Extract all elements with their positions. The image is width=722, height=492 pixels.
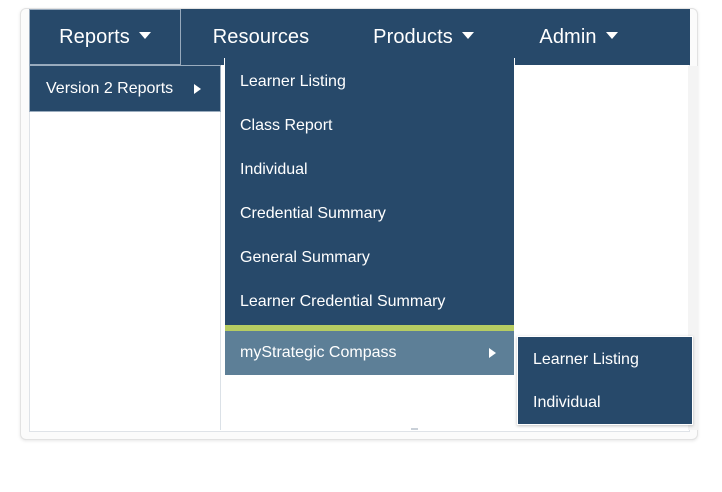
menu-item-learner-credential-summary[interactable]: Learner Credential Summary bbox=[225, 280, 514, 324]
reports-dropdown-menu: Version 2 Reports bbox=[29, 65, 221, 112]
nav-item-products-label: Products bbox=[373, 26, 453, 49]
submenu-item-individual-label: Individual bbox=[533, 394, 601, 412]
nav-item-reports[interactable]: Reports bbox=[29, 9, 181, 65]
nav-item-products[interactable]: Products bbox=[341, 9, 506, 65]
menu-item-version-2-reports[interactable]: Version 2 Reports bbox=[30, 66, 220, 111]
app-screen: Reports Resources Products Admin Version… bbox=[0, 0, 722, 454]
submenu-item-learner-listing[interactable]: Learner Listing bbox=[518, 338, 692, 381]
chevron-right-icon bbox=[194, 84, 201, 94]
menu-item-class-report-label: Class Report bbox=[240, 117, 332, 135]
menu-item-credential-summary[interactable]: Credential Summary bbox=[225, 192, 514, 236]
menu-item-general-summary-label: General Summary bbox=[240, 249, 370, 267]
navbar-items: Reports Resources Products Admin bbox=[29, 9, 651, 65]
chevron-down-icon bbox=[606, 32, 618, 39]
submenu-item-individual[interactable]: Individual bbox=[518, 381, 692, 424]
chevron-down-icon bbox=[462, 32, 474, 39]
menu-item-learner-credential-summary-label: Learner Credential Summary bbox=[240, 293, 445, 311]
nav-item-admin[interactable]: Admin bbox=[506, 9, 651, 65]
menu-item-version-2-reports-label: Version 2 Reports bbox=[46, 80, 173, 98]
menu-item-credential-summary-label: Credential Summary bbox=[240, 205, 386, 223]
nav-item-admin-label: Admin bbox=[539, 26, 596, 49]
menu-item-class-report[interactable]: Class Report bbox=[225, 104, 514, 148]
content-bottom-marker bbox=[411, 428, 418, 430]
chevron-right-icon bbox=[489, 348, 496, 358]
menu-item-learner-listing-label: Learner Listing bbox=[240, 73, 346, 91]
menu-item-individual[interactable]: Individual bbox=[225, 148, 514, 192]
chevron-down-icon bbox=[139, 32, 151, 39]
menu-item-mystrategic-compass-label: myStrategic Compass bbox=[240, 344, 397, 362]
nav-item-resources[interactable]: Resources bbox=[181, 9, 341, 65]
mystrategic-compass-submenu: Learner Listing Individual bbox=[517, 336, 693, 425]
menu-item-learner-listing[interactable]: Learner Listing bbox=[225, 60, 514, 104]
version-2-reports-submenu: Learner Listing Class Report Individual … bbox=[224, 58, 515, 372]
nav-item-resources-label: Resources bbox=[213, 26, 310, 49]
menu-item-mystrategic-compass[interactable]: myStrategic Compass bbox=[225, 331, 514, 375]
menu-item-individual-label: Individual bbox=[240, 161, 308, 179]
main-navbar: Reports Resources Products Admin bbox=[29, 9, 690, 65]
submenu-item-learner-listing-label: Learner Listing bbox=[533, 351, 639, 369]
nav-item-reports-label: Reports bbox=[59, 26, 130, 49]
menu-item-general-summary[interactable]: General Summary bbox=[225, 236, 514, 280]
content-column-divider bbox=[220, 66, 221, 430]
